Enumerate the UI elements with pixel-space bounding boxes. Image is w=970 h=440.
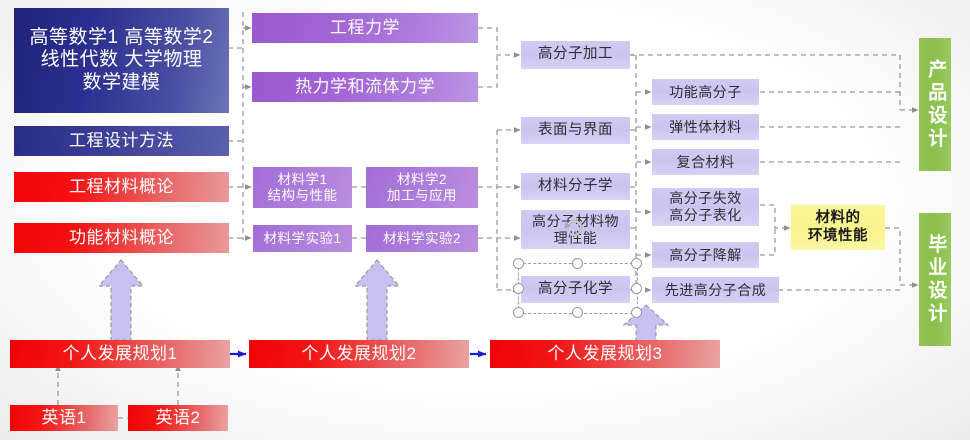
node-thermo-fluid[interactable]: 热力学和流体力学	[252, 72, 478, 102]
node-polymer-chemistry[interactable]: 高分子化学	[521, 276, 630, 303]
selection-handle-w[interactable]	[513, 283, 524, 294]
node-english-1[interactable]: 英语1	[10, 405, 118, 431]
node-mat-sci-1[interactable]: 材料学1 结构与性能	[253, 167, 352, 208]
selection-handle-nw[interactable]	[513, 258, 524, 269]
node-polymer-processing[interactable]: 高分子加工	[521, 41, 630, 69]
node-functional-polymer[interactable]: 功能高分子	[652, 79, 759, 105]
node-mat-lab-2[interactable]: 材料学实验2	[366, 225, 478, 252]
selection-handle-e[interactable]	[631, 283, 642, 294]
diagram-canvas: 高等数学1 高等数学2 线性代数 大学物理 数学建模 工程设计方法 工程材料概论…	[0, 0, 970, 440]
node-material-molecular[interactable]: 材料分子学	[521, 173, 630, 200]
node-polymer-failure[interactable]: 高分子失效 高分子表化	[652, 188, 759, 226]
selection-handle-s[interactable]	[572, 307, 583, 318]
node-product-design[interactable]: 产品设计	[919, 38, 951, 171]
node-mat-lab-1[interactable]: 材料学实验1	[253, 225, 352, 252]
selection-handle-ne[interactable]	[631, 258, 642, 269]
node-composite-material[interactable]: 复合材料	[652, 149, 759, 175]
selection-handle-n[interactable]	[572, 258, 583, 269]
node-personal-plan-3[interactable]: 个人发展规划3	[490, 340, 720, 368]
node-eng-mechanics[interactable]: 工程力学	[252, 13, 478, 43]
node-personal-plan-1[interactable]: 个人发展规划1	[10, 340, 230, 368]
node-func-material-intro[interactable]: 功能材料概论	[14, 223, 229, 253]
node-graduation-design[interactable]: 毕业设计	[919, 213, 951, 346]
selection-handle-se[interactable]	[631, 307, 642, 318]
node-math-block[interactable]: 高等数学1 高等数学2 线性代数 大学物理 数学建模	[14, 8, 229, 113]
node-material-env-perf[interactable]: 材料的 环境性能	[791, 205, 885, 250]
node-surface-interface[interactable]: 表面与界面	[521, 117, 630, 144]
up-arrow-stage-2[interactable]	[352, 258, 402, 342]
node-advanced-polymer-synth[interactable]: 先进高分子合成	[652, 277, 779, 303]
node-polymer-phys-props[interactable]: 高分子材料物 理性能	[521, 210, 630, 249]
up-arrow-stage-3[interactable]	[621, 303, 671, 343]
selection-handle-sw[interactable]	[513, 307, 524, 318]
node-english-2[interactable]: 英语2	[128, 405, 228, 431]
node-elastomer-material[interactable]: 弹性体材料	[652, 114, 759, 140]
node-mat-sci-2[interactable]: 材料学2 加工与应用	[366, 167, 478, 208]
node-personal-plan-2[interactable]: 个人发展规划2	[249, 340, 469, 368]
node-eng-material-intro[interactable]: 工程材料概论	[14, 172, 229, 202]
up-arrow-stage-1[interactable]	[96, 258, 146, 342]
node-eng-design-method[interactable]: 工程设计方法	[14, 126, 229, 156]
node-polymer-degradation[interactable]: 高分子降解	[652, 242, 759, 268]
